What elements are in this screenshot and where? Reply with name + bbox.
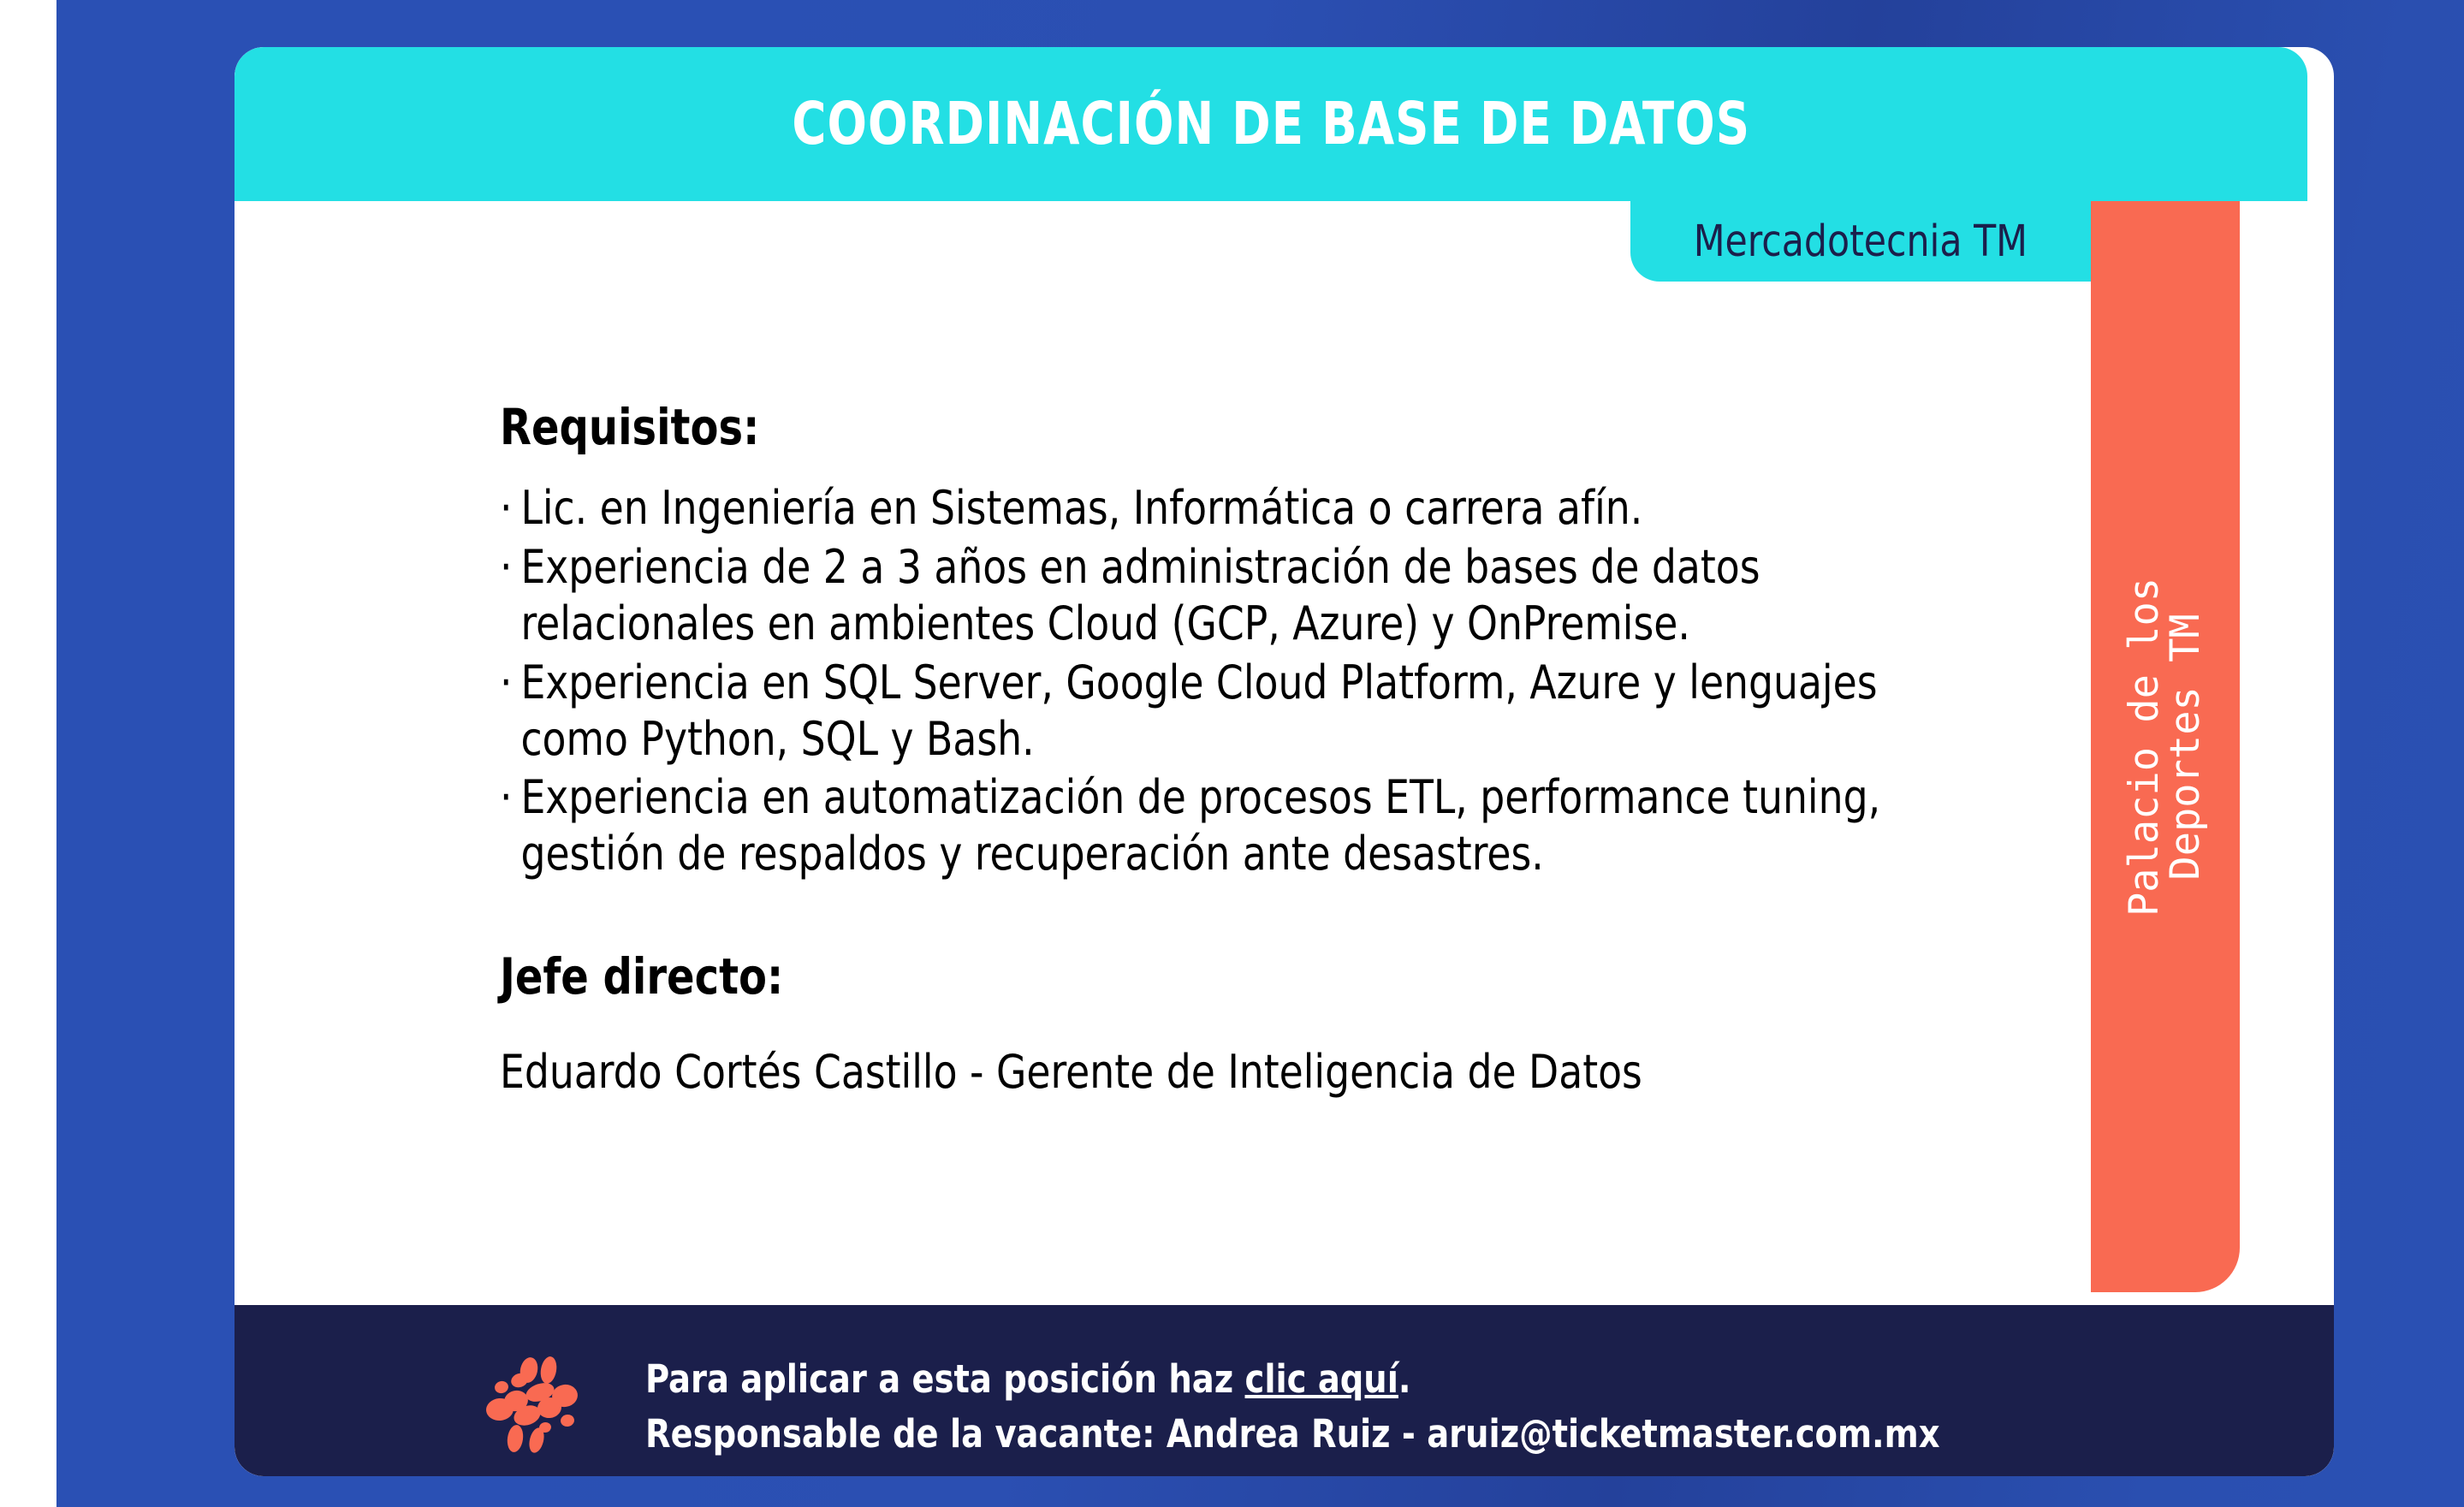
bullet-icon: · — [500, 539, 513, 596]
bullet-icon: · — [500, 480, 513, 537]
manager-heading: Jefe directo: — [500, 947, 1963, 1006]
page-title: COORDINACIÓN DE BASE DE DATOS — [792, 90, 1750, 158]
venue-label-line-1: Palacio de los — [2124, 577, 2165, 916]
apply-link[interactable]: clic aquí — [1245, 1356, 1398, 1402]
list-item: · Experiencia en SQL Server, Google Clou… — [500, 655, 1995, 768]
list-item-text: Experiencia de 2 a 3 años en administrac… — [520, 540, 1760, 650]
footer-text-block: Para aplicar a esta posición haz clic aq… — [645, 1352, 1940, 1462]
list-item: · Experiencia de 2 a 3 años en administr… — [500, 539, 1995, 652]
bullet-icon: · — [500, 655, 513, 711]
list-item-text: Experiencia en SQL Server, Google Cloud … — [520, 656, 1877, 766]
venue-side-panel: Palacio de los Deportes TM — [2091, 201, 2240, 1292]
venue-label: Palacio de los Deportes TM — [2124, 577, 2206, 916]
ticketmaster-dots-logo-icon — [483, 1344, 603, 1464]
requirements-heading: Requisitos: — [500, 398, 1963, 456]
list-item-text: Experiencia en automatización de proceso… — [520, 770, 1880, 881]
apply-suffix: . — [1398, 1356, 1411, 1402]
list-item: · Experiencia en automatización de proce… — [500, 769, 1995, 882]
venue-label-line-2: Deportes TM — [2165, 577, 2206, 916]
job-posting-card: COORDINACIÓN DE BASE DE DATOS Palacio de… — [235, 47, 2334, 1476]
card-body: Requisitos: · Lic. en Ingeniería en Sist… — [235, 201, 2091, 1099]
slide-background: COORDINACIÓN DE BASE DE DATOS Palacio de… — [56, 0, 2464, 1507]
requirements-list: · Lic. en Ingeniería en Sistemas, Inform… — [500, 480, 2091, 882]
venue-text-wrapper: Palacio de los Deportes TM — [2091, 201, 2240, 1292]
apply-line: Para aplicar a esta posición haz clic aq… — [645, 1352, 1940, 1407]
recruiter-line: Responsable de la vacante: Andrea Ruiz -… — [645, 1407, 1940, 1462]
manager-name: Eduardo Cortés Castillo - Gerente de Int… — [500, 1045, 1995, 1099]
card-header-band: COORDINACIÓN DE BASE DE DATOS — [235, 47, 2307, 201]
bullet-icon: · — [500, 769, 513, 826]
list-item: · Lic. en Ingeniería en Sistemas, Inform… — [500, 480, 1995, 537]
apply-prefix: Para aplicar a esta posición haz — [645, 1356, 1245, 1402]
list-item-text: Lic. en Ingeniería en Sistemas, Informát… — [520, 481, 1642, 535]
